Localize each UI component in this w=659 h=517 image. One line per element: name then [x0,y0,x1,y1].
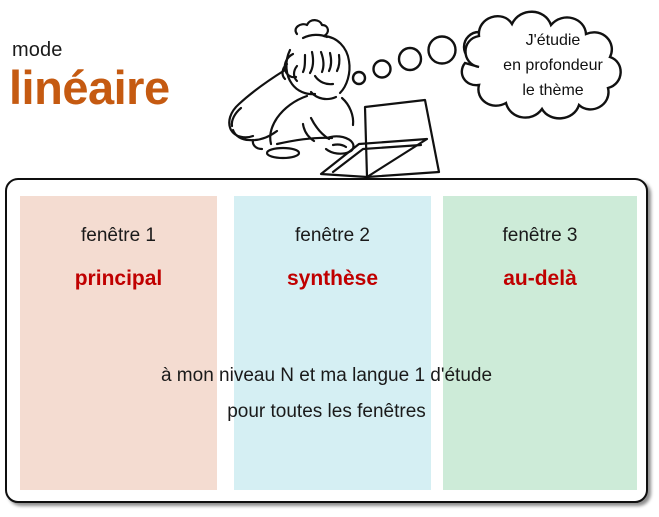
thought-dot-4 [429,37,456,64]
column-value-2: synthèse [234,267,431,291]
caption-line-2: pour toutes les fenêtres [5,394,648,430]
column-value-1: principal [20,267,217,291]
thought-line-3: le thème [522,82,583,99]
thought-dot-3 [399,48,421,70]
column-title-2: fenêtre 2 [234,225,431,247]
thought-bubble-text: J'étudie en profondeur le thème [458,28,648,103]
column-value-3: au-delà [443,267,637,291]
caption-line-1: à mon niveau N et ma langue 1 d'étude [5,358,648,394]
mode-label: mode [12,39,62,62]
panel-caption: à mon niveau N et ma langue 1 d'étude po… [5,358,648,430]
thought-bubble: J'étudie en profondeur le thème [340,4,659,139]
slide-canvas: mode linéaire [0,0,659,517]
mode-value: linéaire [9,64,170,111]
column-title-1: fenêtre 1 [20,225,217,247]
column-title-3: fenêtre 3 [443,225,637,247]
thought-dot-1 [353,72,365,84]
thought-line-2: en profondeur [503,57,603,74]
thought-line-1: J'étudie [526,32,581,49]
thought-dot-2 [374,61,391,78]
